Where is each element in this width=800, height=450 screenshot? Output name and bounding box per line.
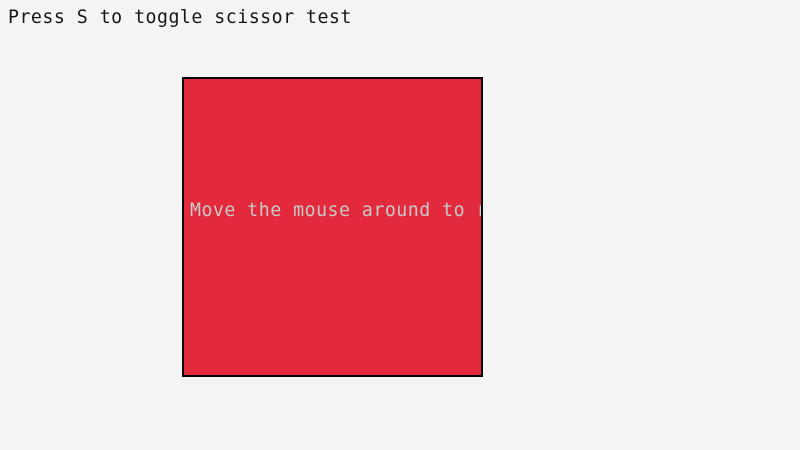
scissor-rectangle[interactable]: Move the mouse around to r — [182, 77, 483, 377]
app-canvas: Press S to toggle scissor test Move the … — [0, 0, 800, 450]
scissor-toggle-hint: Press S to toggle scissor test — [8, 5, 352, 29]
scissor-clipped-text: Move the mouse around to r — [190, 198, 483, 222]
